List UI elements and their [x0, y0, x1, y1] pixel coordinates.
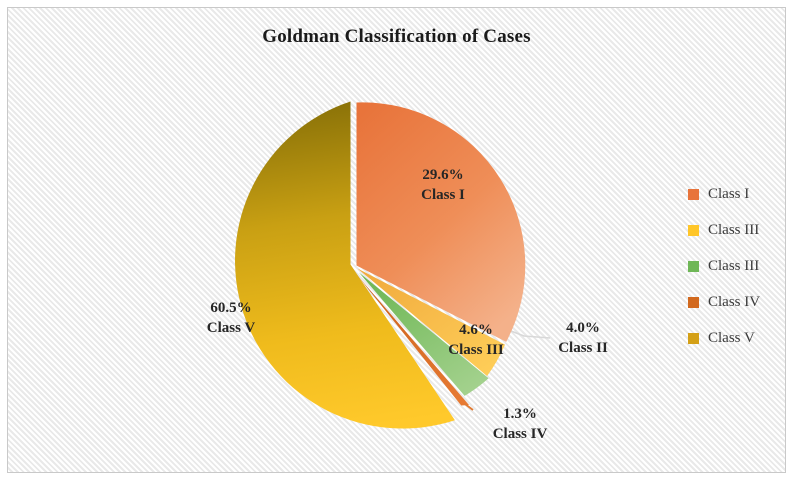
- slice-pct-class-ii: 4.0%: [528, 318, 638, 338]
- slice-pct-class-iv: 1.3%: [460, 404, 580, 424]
- slice-name-class-i: Class I: [388, 185, 498, 205]
- legend-item-0[interactable]: Class I: [688, 176, 793, 212]
- legend-label-3: Class IV: [708, 294, 760, 311]
- slice-pct-class-i: 29.6%: [388, 165, 498, 185]
- legend-item-3[interactable]: Class IV: [688, 284, 793, 320]
- slice-label-class-v: 60.5% Class V: [176, 298, 286, 339]
- legend-swatch-icon-4: [688, 333, 699, 344]
- legend-label-2: Class III: [708, 258, 759, 275]
- slice-label-class-ii: 4.0% Class II: [528, 318, 638, 359]
- slice-label-class-iv: 1.3% Class IV: [460, 404, 580, 445]
- legend-swatch-icon-0: [688, 189, 699, 200]
- legend-label-1: Class III: [708, 222, 759, 239]
- slice-pct-class-iii: 4.6%: [426, 320, 526, 340]
- slice-label-class-iii: 4.6% Class III: [426, 320, 526, 361]
- slice-name-class-iv: Class IV: [460, 424, 580, 444]
- legend-swatch-icon-2: [688, 261, 699, 272]
- legend-item-4[interactable]: Class V: [688, 320, 793, 356]
- slice-pct-class-v: 60.5%: [176, 298, 286, 318]
- chart-plot-area: Goldman Classification of Cases: [7, 7, 786, 473]
- legend-swatch-icon-1: [688, 225, 699, 236]
- slice-name-class-iii: Class III: [426, 340, 526, 360]
- pie-graphic: [158, 88, 578, 438]
- chart-title: Goldman Classification of Cases: [8, 26, 785, 48]
- legend-label-4: Class V: [708, 330, 755, 347]
- slice-name-class-v: Class V: [176, 318, 286, 338]
- legend-label-0: Class I: [708, 186, 749, 203]
- legend-item-1[interactable]: Class III: [688, 212, 793, 248]
- pie-chart-figure: Goldman Classification of Cases: [0, 0, 793, 480]
- pie-svg: [158, 88, 578, 438]
- legend-swatch-icon-3: [688, 297, 699, 308]
- slice-label-class-i: 29.6% Class I: [388, 165, 498, 206]
- chart-legend: Class I Class III Class III Class IV Cla…: [688, 176, 793, 356]
- slice-name-class-ii: Class II: [528, 338, 638, 358]
- legend-item-2[interactable]: Class III: [688, 248, 793, 284]
